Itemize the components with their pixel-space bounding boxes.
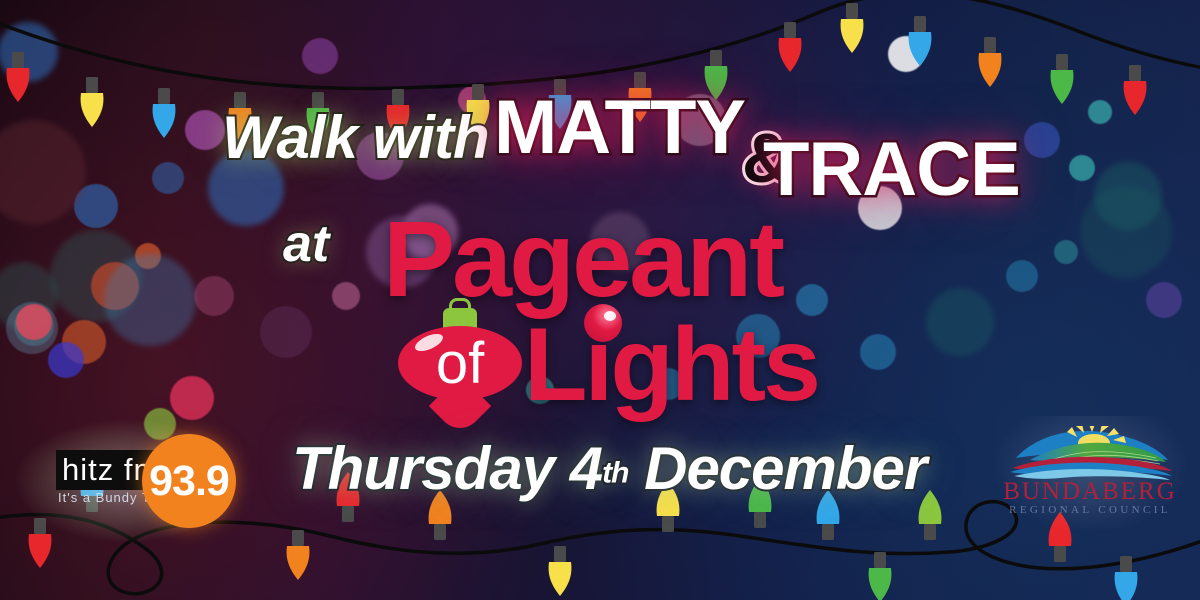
event-lights-wrap: Lights <box>524 306 818 425</box>
event-date-wrap: Thursday 4th December <box>292 434 926 503</box>
headline-trace: TRACE <box>763 127 1020 212</box>
headline-trace-wrap: TRACE <box>763 126 1020 213</box>
event-date-ordinal: th <box>602 457 628 490</box>
light-bauble-dot-icon <box>584 304 622 342</box>
headline-walk-with: Walk with <box>222 104 489 171</box>
bundaberg-council-logo[interactable]: BUNDABERG REGIONAL COUNCIL <box>1000 424 1180 528</box>
bundaberg-wordmark: BUNDABERG <box>1000 478 1180 506</box>
headline-matty-wrap: MATTY <box>494 84 745 171</box>
event-of: of <box>396 330 524 397</box>
event-lights: Lights <box>524 307 818 423</box>
hitz-frequency-value: 93.9 <box>142 434 236 528</box>
event-at: at <box>283 215 329 273</box>
bundaberg-sun-landscape-icon <box>1006 426 1174 482</box>
headline-matty: MATTY <box>494 85 745 170</box>
christmas-ornament-icon: of <box>396 296 524 428</box>
pageant-of-lights-banner: Walk with MATTY & TRACE at Pageant of Li… <box>0 0 1200 600</box>
headline-walk-with-wrap: Walk with <box>222 103 489 172</box>
event-date-month-spacer <box>628 435 644 502</box>
event-date-month: December <box>644 435 926 502</box>
event-at-wrap: at <box>283 214 329 274</box>
event-date-day: Thursday 4 <box>292 435 602 502</box>
bundaberg-subtitle: REGIONAL COUNCIL <box>1000 504 1180 516</box>
hitz-fm-logo[interactable]: hitz fm It's a Bundy Thing 93.9 <box>30 432 220 530</box>
